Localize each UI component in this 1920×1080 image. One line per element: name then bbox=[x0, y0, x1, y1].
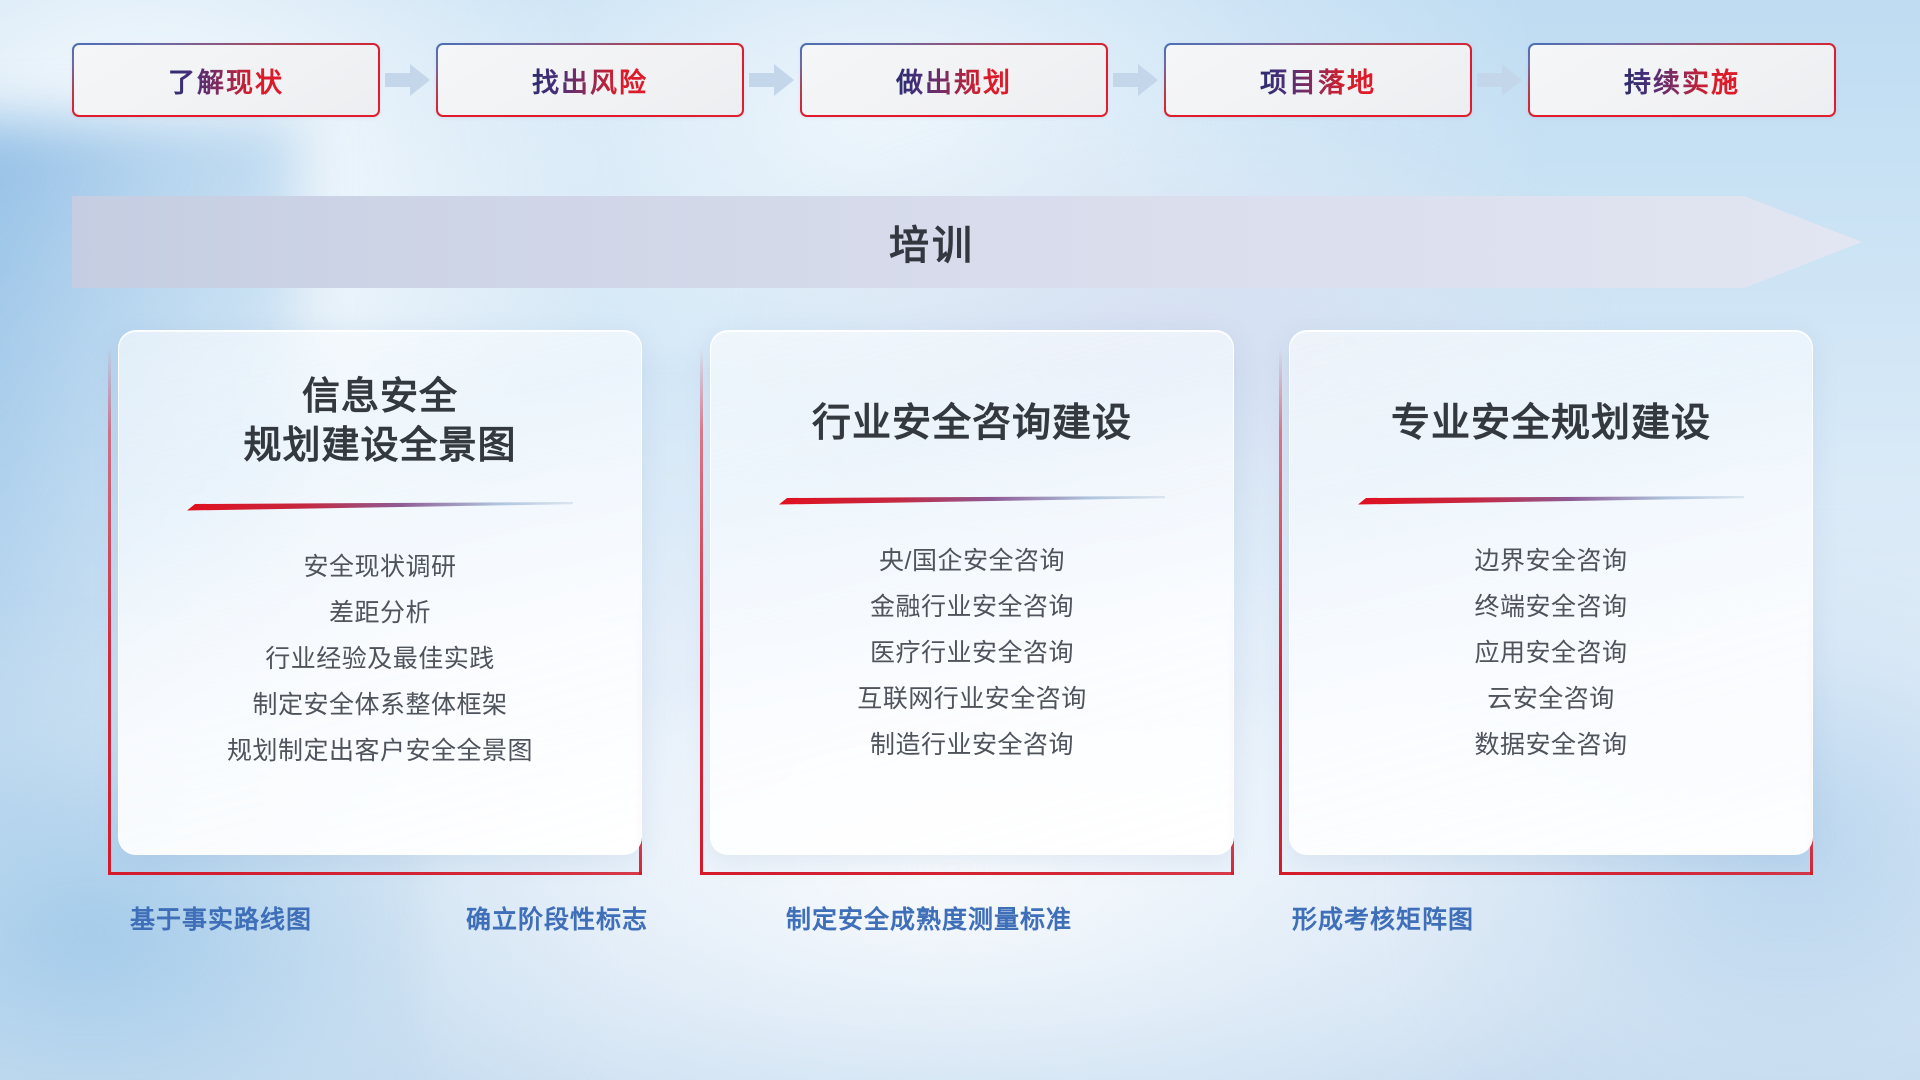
card-title-1: 信息安全 规划建设全景图 bbox=[243, 373, 516, 472]
training-banner: 培训 bbox=[72, 196, 1862, 288]
step-box-5[interactable]: 持续实施 bbox=[1528, 43, 1836, 117]
card-title-line-1: 行业安全咨询建设 bbox=[812, 399, 1132, 450]
list-item: 金融行业安全咨询 bbox=[870, 585, 1074, 631]
step-label-4: 项目落地 bbox=[1260, 61, 1376, 100]
card-red-edge-left-2 bbox=[700, 348, 703, 875]
list-item: 应用安全咨询 bbox=[1474, 631, 1627, 677]
list-item: 互联网行业安全咨询 bbox=[857, 677, 1087, 723]
step-box-2[interactable]: 找出风险 bbox=[436, 43, 744, 117]
banner-label: 培训 bbox=[72, 196, 1792, 288]
card-list-2: 央/国企安全咨询 金融行业安全咨询 医疗行业安全咨询 互联网行业安全咨询 制造行… bbox=[857, 539, 1087, 769]
card-3[interactable]: 专业安全规划建设 边界安 bbox=[1289, 330, 1813, 855]
list-item: 央/国企安全咨询 bbox=[879, 539, 1065, 585]
list-item: 行业经验及最佳实践 bbox=[265, 637, 495, 683]
step-label-3: 做出规划 bbox=[896, 61, 1012, 100]
list-item: 云安全咨询 bbox=[1487, 677, 1615, 723]
card-divider-1 bbox=[187, 502, 573, 511]
card-title-line-1: 专业安全规划建设 bbox=[1391, 399, 1711, 450]
list-item: 差距分析 bbox=[329, 591, 431, 637]
arrow-right-icon bbox=[744, 43, 800, 117]
list-item: 医疗行业安全咨询 bbox=[870, 631, 1074, 677]
step-wrap-4: 项目落地 bbox=[1164, 43, 1528, 117]
card-red-edge-left-1 bbox=[108, 348, 111, 875]
list-item: 制定安全体系整体框架 bbox=[252, 683, 507, 729]
step-wrap-3: 做出规划 bbox=[800, 43, 1164, 117]
step-wrap-1: 了解现状 bbox=[72, 43, 436, 117]
list-item: 终端安全咨询 bbox=[1474, 585, 1627, 631]
list-item: 数据安全咨询 bbox=[1474, 723, 1627, 769]
card-red-edge-bottom-3 bbox=[1279, 872, 1813, 875]
caption-2: 确立阶段性标志 bbox=[466, 900, 648, 936]
card-title-line-1: 信息安全 bbox=[243, 373, 516, 422]
list-item: 安全现状调研 bbox=[303, 545, 456, 591]
step-wrap-5: 持续实施 bbox=[1528, 43, 1836, 117]
step-label-2: 找出风险 bbox=[532, 61, 648, 100]
card-slot-3: 专业安全规划建设 边界安 bbox=[1279, 330, 1813, 875]
card-title-line-2: 规划建设全景图 bbox=[243, 422, 516, 471]
process-step-row: 了解现状 找出风险 做出规划 项目落地 bbox=[0, 0, 1920, 160]
captions-row: 基于事实路线图 确立阶段性标志 制定安全成熟度测量标准 形成考核矩阵图 bbox=[0, 900, 1920, 990]
caption-4: 形成考核矩阵图 bbox=[1292, 900, 1474, 936]
card-1[interactable]: 信息安全 规划建设全景图 bbox=[118, 330, 642, 855]
step-label-5: 持续实施 bbox=[1624, 61, 1740, 100]
step-box-4[interactable]: 项目落地 bbox=[1164, 43, 1472, 117]
card-red-edge-bottom-2 bbox=[700, 872, 1234, 875]
card-list-1: 安全现状调研 差距分析 行业经验及最佳实践 制定安全体系整体框架 规划制定出客户… bbox=[227, 545, 533, 775]
step-box-3[interactable]: 做出规划 bbox=[800, 43, 1108, 117]
arrow-right-icon bbox=[1108, 43, 1164, 117]
card-red-edge-bottom-1 bbox=[108, 872, 642, 875]
step-label-1: 了解现状 bbox=[168, 61, 284, 100]
card-divider-2 bbox=[779, 496, 1165, 505]
card-title-2: 行业安全咨询建设 bbox=[812, 399, 1132, 450]
list-item: 规划制定出客户安全全景图 bbox=[227, 729, 533, 775]
card-divider-3 bbox=[1358, 496, 1744, 505]
card-list-3: 边界安全咨询 终端安全咨询 应用安全咨询 云安全咨询 数据安全咨询 bbox=[1474, 539, 1627, 769]
card-slot-2: 行业安全咨询建设 央/国 bbox=[700, 330, 1234, 875]
card-red-edge-left-3 bbox=[1279, 348, 1282, 875]
list-item: 制造行业安全咨询 bbox=[870, 723, 1074, 769]
card-title-3: 专业安全规划建设 bbox=[1391, 399, 1711, 450]
step-wrap-2: 找出风险 bbox=[436, 43, 800, 117]
list-item: 边界安全咨询 bbox=[1474, 539, 1627, 585]
arrow-right-icon bbox=[380, 43, 436, 117]
cards-row: 信息安全 规划建设全景图 bbox=[0, 330, 1920, 890]
card-slot-1: 信息安全 规划建设全景图 bbox=[108, 330, 642, 875]
caption-3: 制定安全成熟度测量标准 bbox=[786, 900, 1072, 936]
card-2[interactable]: 行业安全咨询建设 央/国 bbox=[710, 330, 1234, 855]
caption-1: 基于事实路线图 bbox=[130, 900, 312, 936]
step-box-1[interactable]: 了解现状 bbox=[72, 43, 380, 117]
arrow-right-icon bbox=[1472, 43, 1528, 117]
